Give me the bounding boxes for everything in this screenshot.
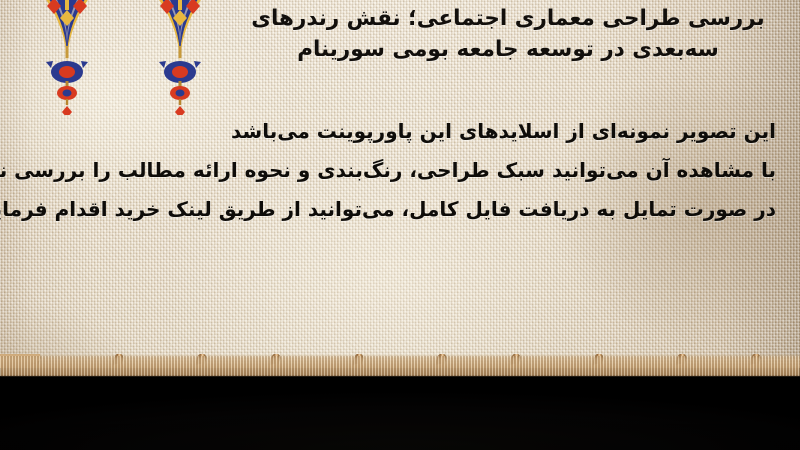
- fringe-black-backdrop: [0, 368, 800, 450]
- slide-title: بررسی طراحی معماری اجتماعی؛ نقش رندرهای …: [238, 4, 778, 65]
- presentation-slide: بررسی طراحی معماری اجتماعی؛ نقش رندرهای …: [0, 0, 800, 450]
- carpet-fringe-band: [0, 354, 800, 450]
- fringe-woven-edge-texture: [0, 356, 800, 376]
- carpet-medallion-left: [15, 0, 119, 115]
- carpet-medallion-group: [0, 0, 260, 119]
- slide-body-line-3: در صورت تمایل به دریافت فایل کامل، می‌تو…: [24, 190, 776, 229]
- slide-title-line-1: بررسی طراحی معماری اجتماعی؛ نقش رندرهای: [238, 4, 778, 35]
- slide-body-line-1: این تصویر نمونه‌ای از اسلایدهای این پاور…: [24, 112, 776, 151]
- slide-title-line-2: سه‌بعدی در توسعه جامعه بومی سورینام: [238, 35, 778, 66]
- carpet-medallion-right: [128, 0, 232, 115]
- slide-body-text: این تصویر نمونه‌ای از اسلایدهای این پاور…: [24, 112, 776, 229]
- slide-body-line-2: با مشاهده آن می‌توانید سبک طراحی، رنگ‌بن…: [24, 151, 776, 190]
